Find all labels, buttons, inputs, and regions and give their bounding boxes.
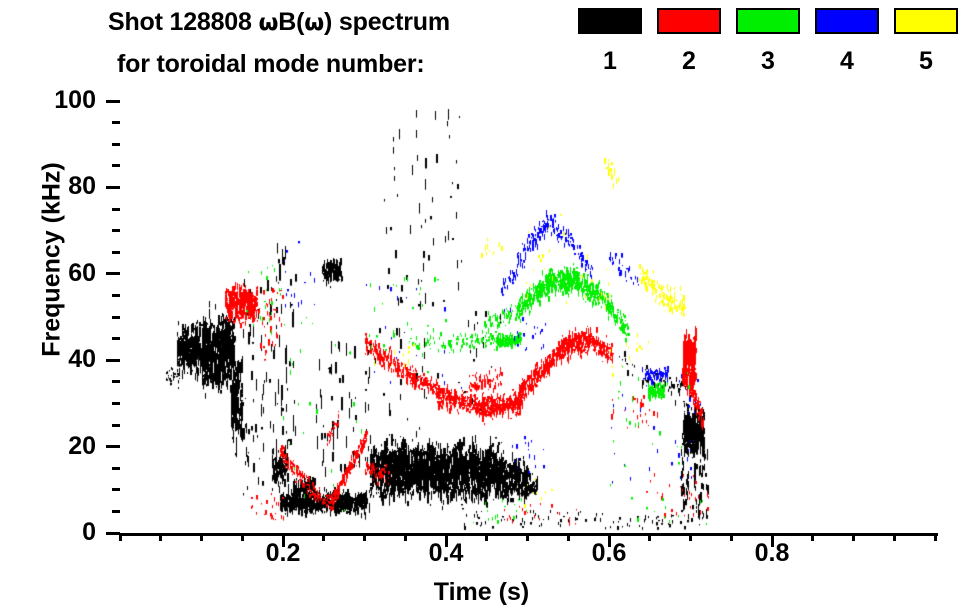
tick-mark (567, 533, 570, 541)
tick-mark (934, 533, 937, 541)
tick-mark (445, 533, 448, 547)
tick-mark (119, 533, 122, 541)
tick-mark (106, 186, 120, 189)
tick-mark (112, 424, 120, 427)
title-block: Shot 128808 ωB(ω) spectrum for toroidal … (0, 0, 963, 95)
tick-mark (485, 533, 488, 541)
spectrogram-plot-area (120, 101, 935, 533)
legend-label-mode-2: 2 (657, 48, 721, 74)
legend-label-mode-1: 1 (578, 48, 642, 74)
y-tick-label: 80 (34, 174, 96, 199)
legend-item-5: 5 (894, 8, 958, 74)
tick-mark (112, 294, 120, 297)
legend-item-4: 4 (815, 8, 879, 74)
y-tick-label: 20 (34, 434, 96, 459)
tick-mark (112, 164, 120, 167)
tick-mark (200, 533, 203, 541)
title-mid: B( (278, 8, 304, 36)
legend-label-mode-4: 4 (815, 48, 879, 74)
tick-mark (112, 380, 120, 383)
legend-item-3: 3 (736, 8, 800, 74)
tick-mark (112, 316, 120, 319)
legend-swatch-mode-2 (657, 8, 721, 34)
tick-mark (112, 337, 120, 340)
legend-item-1: 1 (578, 8, 642, 74)
tick-mark (771, 533, 774, 547)
tick-mark (404, 533, 407, 541)
y-tick-label: 40 (34, 347, 96, 372)
y-tick-label: 60 (34, 261, 96, 286)
omega-symbol-2: ω (304, 10, 324, 36)
title-suffix: ) spectrum (324, 8, 450, 36)
figure-title-line2: for toroidal mode number: (117, 50, 425, 79)
spectrogram-figure: Shot 128808 ωB(ω) spectrum for toroidal … (0, 0, 963, 615)
tick-mark (106, 445, 120, 448)
figure-title-line1: Shot 128808 ωB(ω) spectrum (108, 8, 450, 37)
tick-mark (648, 533, 651, 541)
tick-mark (112, 121, 120, 124)
tick-mark (282, 533, 285, 547)
legend-item-2: 2 (657, 8, 721, 74)
tick-mark (112, 143, 120, 146)
legend-swatch-mode-5 (894, 8, 958, 34)
legend-swatch-mode-3 (736, 8, 800, 34)
tick-mark (106, 100, 120, 103)
tick-mark (893, 533, 896, 541)
tick-mark (112, 510, 120, 513)
tick-mark (241, 533, 244, 541)
tick-mark (852, 533, 855, 541)
tick-mark (112, 229, 120, 232)
tick-mark (526, 533, 529, 541)
tick-mark (112, 208, 120, 211)
tick-mark (159, 533, 162, 541)
y-tick-label: 100 (34, 88, 96, 113)
omega-symbol-1: ω (258, 10, 278, 36)
legend-swatch-mode-4 (815, 8, 879, 34)
tick-mark (112, 467, 120, 470)
tick-mark (689, 533, 692, 541)
tick-mark (811, 533, 814, 541)
legend-swatch-mode-1 (578, 8, 642, 34)
tick-mark (112, 402, 120, 405)
x-axis-label: Time (s) (0, 578, 963, 607)
legend-label-mode-3: 3 (736, 48, 800, 74)
title-prefix: Shot 128808 (108, 8, 258, 36)
legend: 1 2 3 4 5 (578, 8, 958, 88)
y-tick-label: 0 (34, 520, 96, 545)
tick-mark (106, 359, 120, 362)
legend-label-mode-5: 5 (894, 48, 958, 74)
tick-mark (106, 272, 120, 275)
tick-mark (112, 251, 120, 254)
tick-mark (608, 533, 611, 547)
tick-mark (363, 533, 366, 541)
tick-mark (322, 533, 325, 541)
tick-mark (730, 533, 733, 541)
tick-mark (112, 488, 120, 491)
